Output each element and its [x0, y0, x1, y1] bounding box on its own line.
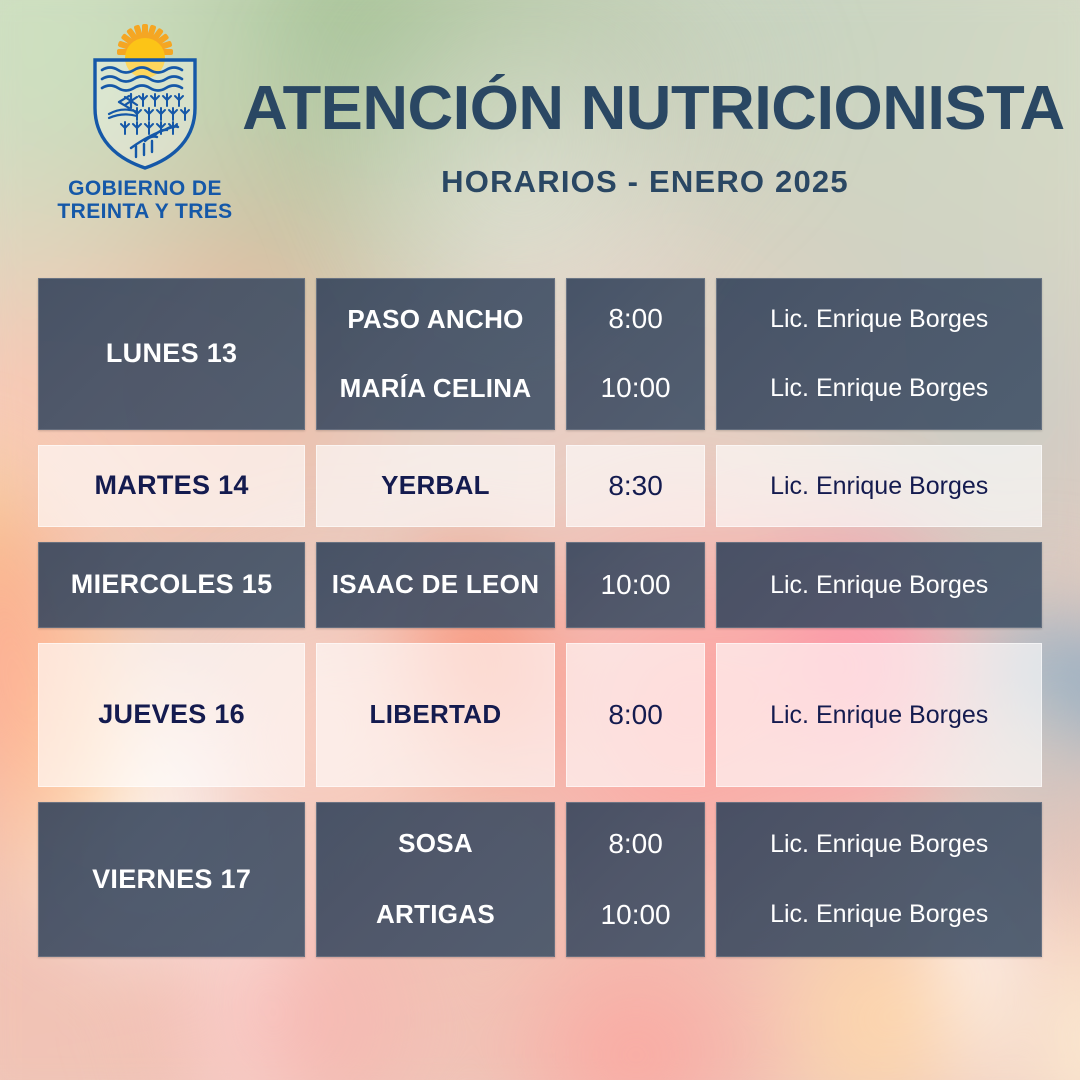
day-cell: MIERCOLES 15 [38, 542, 305, 628]
day-label: MARTES 14 [95, 470, 249, 501]
table-row: MARTES 14 YERBAL 8:30 Lic. Enrique Borge… [38, 445, 1042, 527]
location-label: YERBAL [381, 471, 490, 501]
time-label: 8:00 [608, 699, 663, 731]
title-block: ATENCIÓN NUTRICIONISTA HORARIOS - ENERO … [250, 78, 1040, 200]
time-cell: 8:00 10:00 [566, 802, 706, 957]
day-cell: MARTES 14 [38, 445, 305, 527]
location-cell: LIBERTAD [316, 643, 555, 787]
professional-label: Lic. Enrique Borges [770, 701, 988, 730]
time-label: 10:00 [601, 569, 671, 601]
location-label: ARTIGAS [321, 880, 550, 951]
poster-header: GOBIERNO DE TREINTA Y TRES ATENCIÓN NUTR… [0, 0, 1080, 262]
professional-label: Lic. Enrique Borges [721, 354, 1037, 423]
government-logo: GOBIERNO DE TREINTA Y TRES [45, 22, 245, 223]
page-subtitle: HORARIOS - ENERO 2025 [250, 164, 1040, 200]
location-label: SOSA [321, 809, 550, 880]
professional-cell: Lic. Enrique Borges Lic. Enrique Borges [716, 278, 1042, 430]
day-label: LUNES 13 [106, 338, 237, 369]
professional-label: Lic. Enrique Borges [721, 285, 1037, 354]
location-label: LIBERTAD [370, 700, 502, 730]
time-cell: 8:30 [566, 445, 706, 527]
location-label: MARÍA CELINA [321, 354, 550, 423]
time-label: 10:00 [571, 880, 701, 951]
professional-label: Lic. Enrique Borges [770, 571, 988, 600]
day-label: VIERNES 17 [92, 864, 251, 895]
poster-canvas: GOBIERNO DE TREINTA Y TRES ATENCIÓN NUTR… [0, 0, 1080, 1080]
day-cell: JUEVES 16 [38, 643, 305, 787]
professional-label: Lic. Enrique Borges [770, 472, 988, 501]
professional-cell: Lic. Enrique Borges [716, 445, 1042, 527]
time-cell: 8:00 10:00 [566, 278, 706, 430]
table-row: VIERNES 17 SOSA ARTIGAS 8:00 10:00 Lic. … [38, 802, 1042, 957]
professional-label: Lic. Enrique Borges [721, 809, 1037, 880]
professional-label: Lic. Enrique Borges [721, 880, 1037, 951]
table-row: LUNES 13 PASO ANCHO MARÍA CELINA 8:00 10… [38, 278, 1042, 430]
page-title: ATENCIÓN NUTRICIONISTA [242, 78, 1048, 140]
location-label: PASO ANCHO [321, 285, 550, 354]
time-label: 8:30 [608, 470, 663, 502]
time-label: 8:00 [571, 809, 701, 880]
schedule-table: LUNES 13 PASO ANCHO MARÍA CELINA 8:00 10… [38, 278, 1042, 972]
coat-of-arms-icon [45, 22, 245, 172]
professional-cell: Lic. Enrique Borges [716, 643, 1042, 787]
professional-cell: Lic. Enrique Borges [716, 542, 1042, 628]
location-label: ISAAC DE LEON [332, 570, 540, 600]
day-cell: LUNES 13 [38, 278, 305, 430]
org-name-line1: GOBIERNO DE [45, 178, 245, 201]
time-cell: 10:00 [566, 542, 706, 628]
time-cell: 8:00 [566, 643, 706, 787]
org-name-line2: TREINTA Y TRES [45, 201, 245, 224]
professional-cell: Lic. Enrique Borges Lic. Enrique Borges [716, 802, 1042, 957]
day-cell: VIERNES 17 [38, 802, 305, 957]
day-label: MIERCOLES 15 [71, 569, 273, 600]
location-cell: YERBAL [316, 445, 555, 527]
day-label: JUEVES 16 [98, 699, 245, 730]
time-label: 10:00 [571, 354, 701, 423]
time-label: 8:00 [571, 285, 701, 354]
location-cell: PASO ANCHO MARÍA CELINA [316, 278, 555, 430]
location-cell: ISAAC DE LEON [316, 542, 555, 628]
table-row: JUEVES 16 LIBERTAD 8:00 Lic. Enrique Bor… [38, 643, 1042, 787]
location-cell: SOSA ARTIGAS [316, 802, 555, 957]
table-row: MIERCOLES 15 ISAAC DE LEON 10:00 Lic. En… [38, 542, 1042, 628]
